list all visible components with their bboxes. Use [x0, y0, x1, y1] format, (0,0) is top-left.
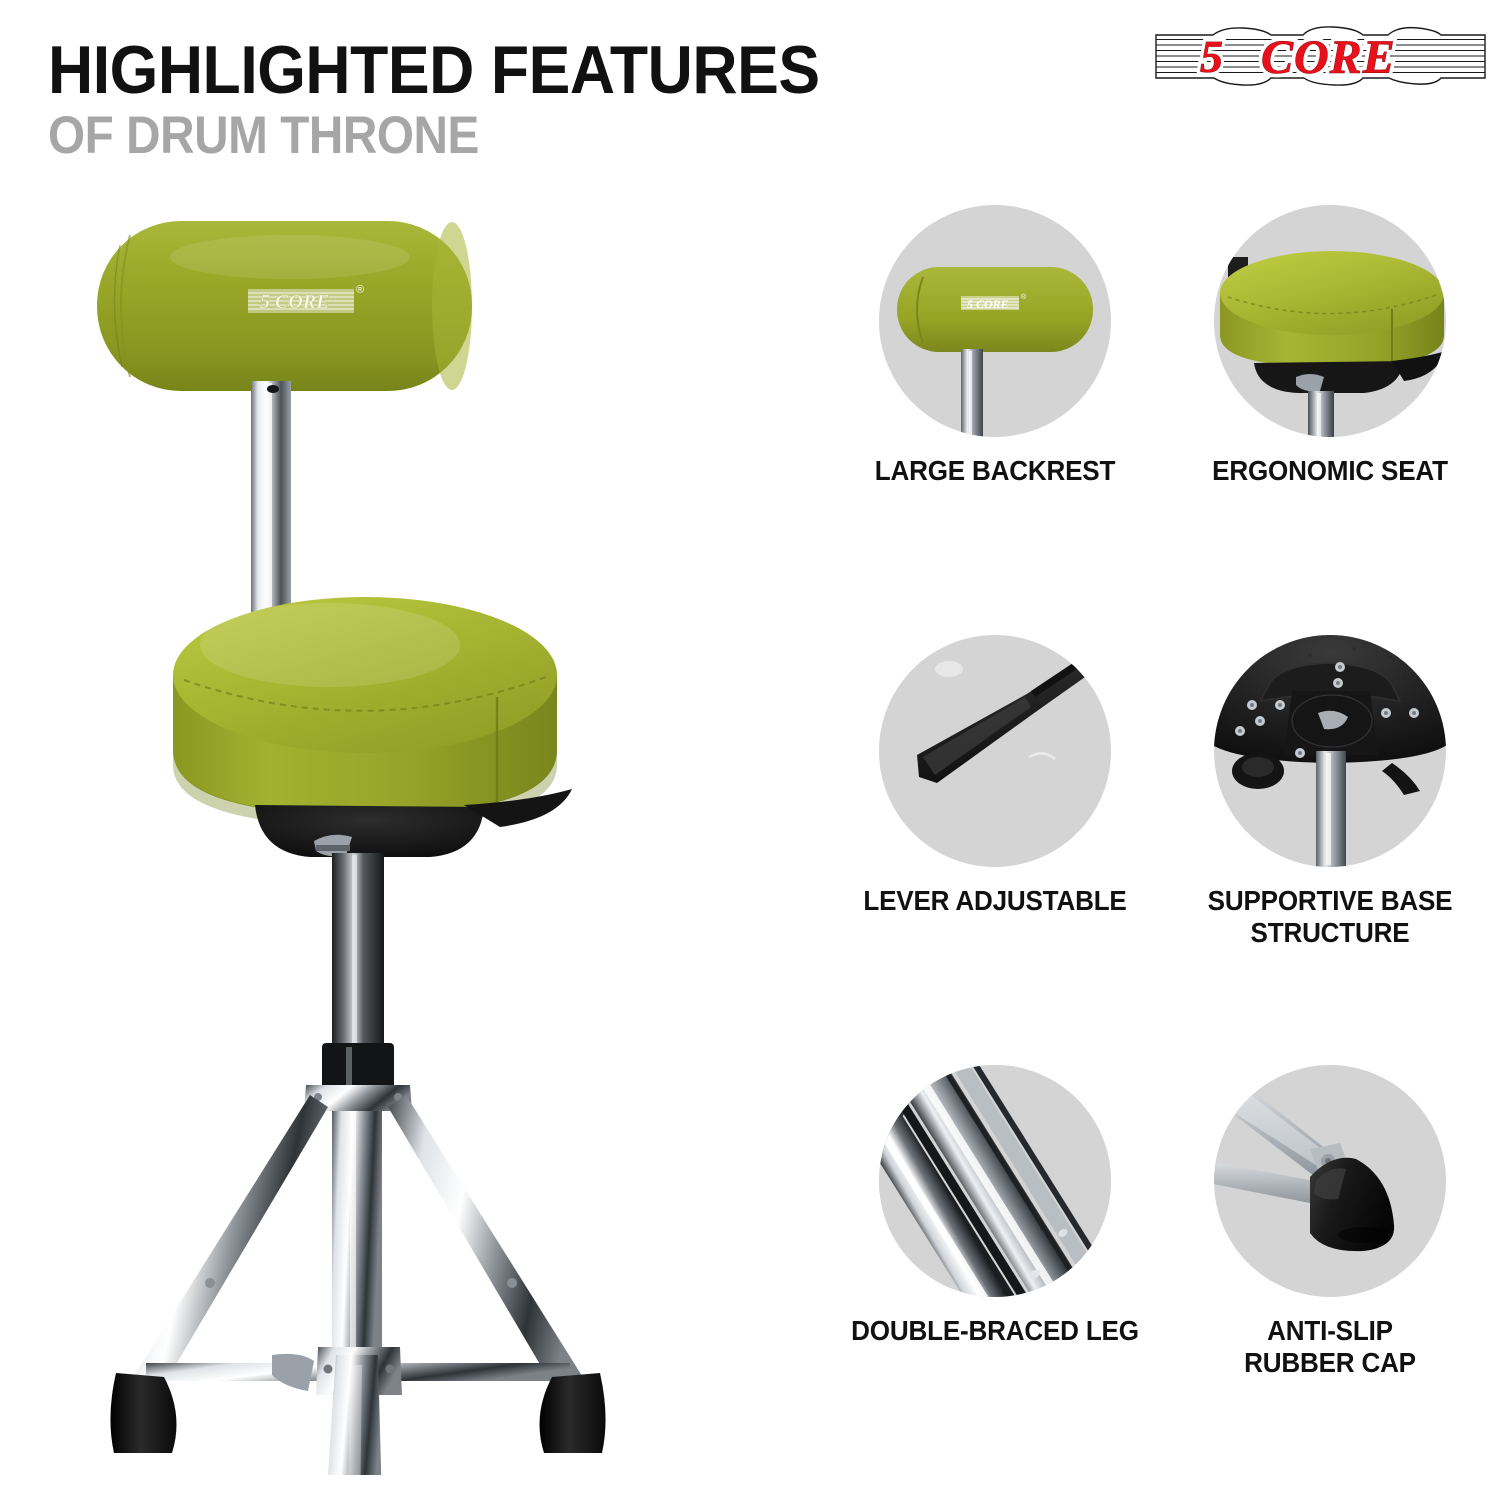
feature-image-anti-slip-rubber-cap — [1214, 1065, 1446, 1297]
feature-callout-grid: 5 CORE ® LARGE BACKREST — [800, 205, 1500, 1475]
lever-closeup-icon — [879, 635, 1111, 867]
double-braced-leg-closeup-icon — [879, 1065, 1111, 1297]
base-structure-closeup-icon — [1214, 635, 1446, 867]
seat-closeup-icon — [1214, 205, 1446, 437]
feature-image-ergonomic-seat — [1214, 205, 1446, 437]
feature-double-braced-leg[interactable]: DOUBLE-BRACED LEG — [820, 1065, 1170, 1347]
page-header: HIGHLIGHTED FEATURES OF DRUM THRONE — [0, 0, 1500, 200]
feature-ergonomic-seat[interactable]: ERGONOMIC SEAT — [1155, 205, 1500, 487]
feature-label-double-braced-leg: DOUBLE-BRACED LEG — [832, 1315, 1158, 1347]
drum-throne-illustration: 5 CORE ® — [60, 205, 760, 1475]
tripod-base — [110, 1085, 605, 1475]
svg-text:5 CORE: 5 CORE — [967, 297, 1009, 311]
center-spindle — [332, 1085, 382, 1385]
feature-image-lever-adjustable — [879, 635, 1111, 867]
feature-supportive-base-structure[interactable]: SUPPORTIVE BASE STRUCTURE — [1155, 635, 1500, 949]
brand-logo-icon: 5 5 CORE CORE — [1153, 22, 1488, 90]
feature-large-backrest[interactable]: 5 CORE ® LARGE BACKREST — [820, 205, 1170, 487]
brand-logo-5core: 5 5 CORE CORE — [1153, 22, 1488, 90]
tilt-lever — [272, 1354, 314, 1391]
feature-label-ergonomic-seat: ERGONOMIC SEAT — [1167, 455, 1493, 487]
svg-text:5 CORE: 5 CORE — [260, 291, 329, 313]
feature-image-double-braced-leg — [879, 1065, 1111, 1297]
feature-label-lever-adjustable: LEVER ADJUSTABLE — [832, 885, 1158, 917]
feature-label-anti-slip-rubber-cap: ANTI-SLIP RUBBER CAP — [1167, 1315, 1493, 1379]
feature-image-large-backrest: 5 CORE ® — [879, 205, 1111, 437]
height-adjust-post — [322, 853, 394, 1091]
backrest-support-post — [251, 381, 291, 641]
title-main: HIGHLIGHTED FEATURES — [48, 38, 820, 103]
backrest-closeup-icon: 5 CORE ® — [879, 205, 1111, 437]
feature-image-supportive-base — [1214, 635, 1446, 867]
title-subtitle: OF DRUM THRONE — [48, 109, 803, 162]
product-hero-image: 5 CORE ® — [60, 205, 760, 1475]
leg-screw-right — [507, 1278, 517, 1288]
feature-anti-slip-rubber-cap[interactable]: ANTI-SLIP RUBBER CAP — [1155, 1065, 1500, 1379]
feature-label-supportive-base: SUPPORTIVE BASE STRUCTURE — [1167, 885, 1493, 949]
seat-cushion — [173, 597, 557, 827]
leg-right-outer — [388, 1095, 594, 1405]
svg-text:5: 5 — [1200, 31, 1223, 82]
rubber-foot-right — [540, 1373, 606, 1453]
feature-lever-adjustable[interactable]: LEVER ADJUSTABLE — [820, 635, 1170, 917]
rubber-foot-left — [110, 1373, 176, 1453]
feature-label-large-backrest: LARGE BACKREST — [832, 455, 1158, 487]
leg-screw-left — [205, 1278, 215, 1288]
page-title: HIGHLIGHTED FEATURES OF DRUM THRONE — [48, 38, 887, 162]
rubber-cap-closeup-icon — [1214, 1065, 1446, 1297]
svg-text:CORE: CORE — [1261, 31, 1396, 84]
svg-text:®: ® — [1021, 293, 1027, 301]
svg-text:®: ® — [356, 284, 364, 296]
